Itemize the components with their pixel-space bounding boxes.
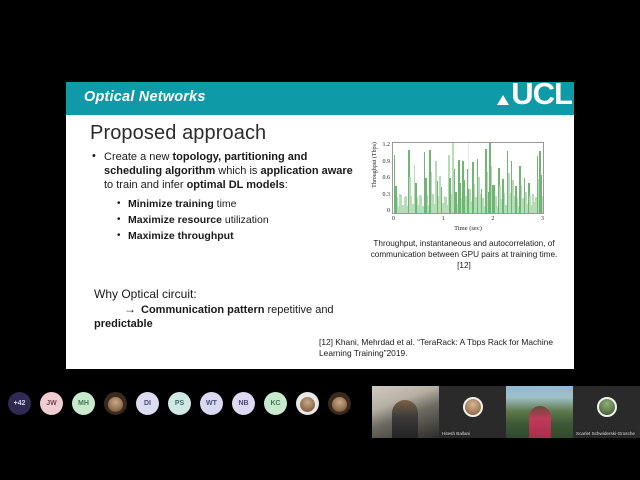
x-tick: 2 — [491, 216, 494, 222]
ucl-triangle-icon — [497, 95, 509, 105]
participant-avatar-strip[interactable]: +42JWMHDIPSWTNBKC — [0, 388, 370, 418]
tile-participant-name: Hitesh Ballani — [442, 431, 470, 436]
video-tile[interactable]: Hitesh Ballani — [439, 386, 506, 438]
x-tick: 3 — [541, 216, 544, 222]
avatar[interactable]: WT — [200, 392, 223, 415]
sub-bullet-bold: Maximize throughput — [128, 230, 234, 242]
slide-header-title: Optical Networks — [84, 89, 206, 105]
list-item: Minimize training time — [114, 196, 362, 212]
reference-citation: [12] Khani, Mehrdad et al. “TeraRack: A … — [319, 337, 559, 359]
throughput-chart: Throughput (Tbps) 1.2 0.9 0.6 0.3 0 0 1 … — [366, 138, 562, 234]
chart-caption: Throughput, instantaneous and autocorrel… — [366, 238, 562, 271]
participant-overflow-count[interactable]: +42 — [8, 392, 31, 415]
slide-body: Create a new topology, partitioning and … — [90, 150, 362, 244]
y-tick: 1.2 — [383, 142, 391, 148]
tile-participant-name: Scarlet Schwiderski-Grosche — [576, 431, 635, 436]
x-tick: 1 — [442, 216, 445, 222]
why-detail: →Communication pattern repetitive and — [94, 302, 384, 318]
video-tile-row: Hitesh Ballani Scarlet Schwiderski-Grosc… — [372, 386, 640, 438]
sub-bullet-rest: time — [214, 198, 237, 210]
avatar[interactable]: MH — [72, 392, 95, 415]
sub-bullet-rest: utilization — [222, 214, 269, 226]
chart-plot-area — [392, 142, 544, 214]
list-item: Maximize throughput — [114, 228, 362, 244]
bullet-main-text: Create a new topology, partitioning and … — [104, 151, 353, 191]
y-tick: 0.6 — [383, 175, 391, 181]
sub-bullet-bold: Maximize resource — [128, 214, 222, 226]
chart-x-axis-label: Time (sec) — [392, 225, 544, 232]
y-tick: 0.9 — [383, 159, 391, 165]
avatar[interactable] — [104, 392, 127, 415]
list-item: Maximize resource utilization — [114, 212, 362, 228]
bullet-bold-2: application aware — [260, 165, 352, 177]
why-rest2: predictable — [94, 318, 384, 331]
slide-header-bar: Optical Networks UCL — [66, 82, 574, 115]
presentation-slide: Optical Networks UCL Proposed approach C… — [66, 82, 574, 369]
video-tile[interactable] — [372, 386, 439, 438]
chart-bars — [393, 143, 543, 213]
chart-figure: Throughput (Tbps) 1.2 0.9 0.6 0.3 0 0 1 … — [366, 138, 562, 234]
page-title: Proposed approach — [90, 122, 266, 145]
avatar[interactable] — [328, 392, 351, 415]
avatar — [463, 397, 483, 417]
chart-bar — [542, 196, 544, 214]
avatar[interactable]: KC — [264, 392, 287, 415]
avatar[interactable] — [296, 392, 319, 415]
video-tile[interactable] — [506, 386, 573, 438]
avatar[interactable]: PS — [168, 392, 191, 415]
bullet-main: Create a new topology, partitioning and … — [90, 150, 362, 192]
ucl-logo: UCL — [497, 78, 572, 109]
ucl-logo-text: UCL — [511, 78, 572, 109]
avatar[interactable]: JW — [40, 392, 63, 415]
why-rest: repetitive and — [264, 304, 333, 316]
x-tick: 0 — [392, 216, 395, 222]
why-bold: Communication pattern — [141, 304, 264, 316]
why-heading: Why Optical circuit: — [94, 287, 384, 302]
sub-bullet-bold: Minimize training — [128, 198, 214, 210]
avatar[interactable]: DI — [136, 392, 159, 415]
avatar — [597, 397, 617, 417]
why-optical-block: Why Optical circuit: →Communication patt… — [94, 287, 384, 331]
y-tick: 0.3 — [383, 192, 391, 198]
chart-x-ticks: 0 1 2 3 — [392, 216, 544, 222]
arrow-icon: → — [124, 302, 136, 317]
chart-y-ticks: 1.2 0.9 0.6 0.3 0 — [370, 142, 390, 214]
y-tick: 0 — [387, 208, 390, 214]
sub-bullet-list: Minimize training time Maximize resource… — [114, 196, 362, 244]
bullet-bold-3: optimal DL models — [187, 179, 285, 191]
video-tile[interactable]: Scarlet Schwiderski-Grosche — [573, 386, 640, 438]
meeting-screenshare-window: Optical Networks UCL Proposed approach C… — [0, 0, 640, 480]
avatar[interactable]: NB — [232, 392, 255, 415]
